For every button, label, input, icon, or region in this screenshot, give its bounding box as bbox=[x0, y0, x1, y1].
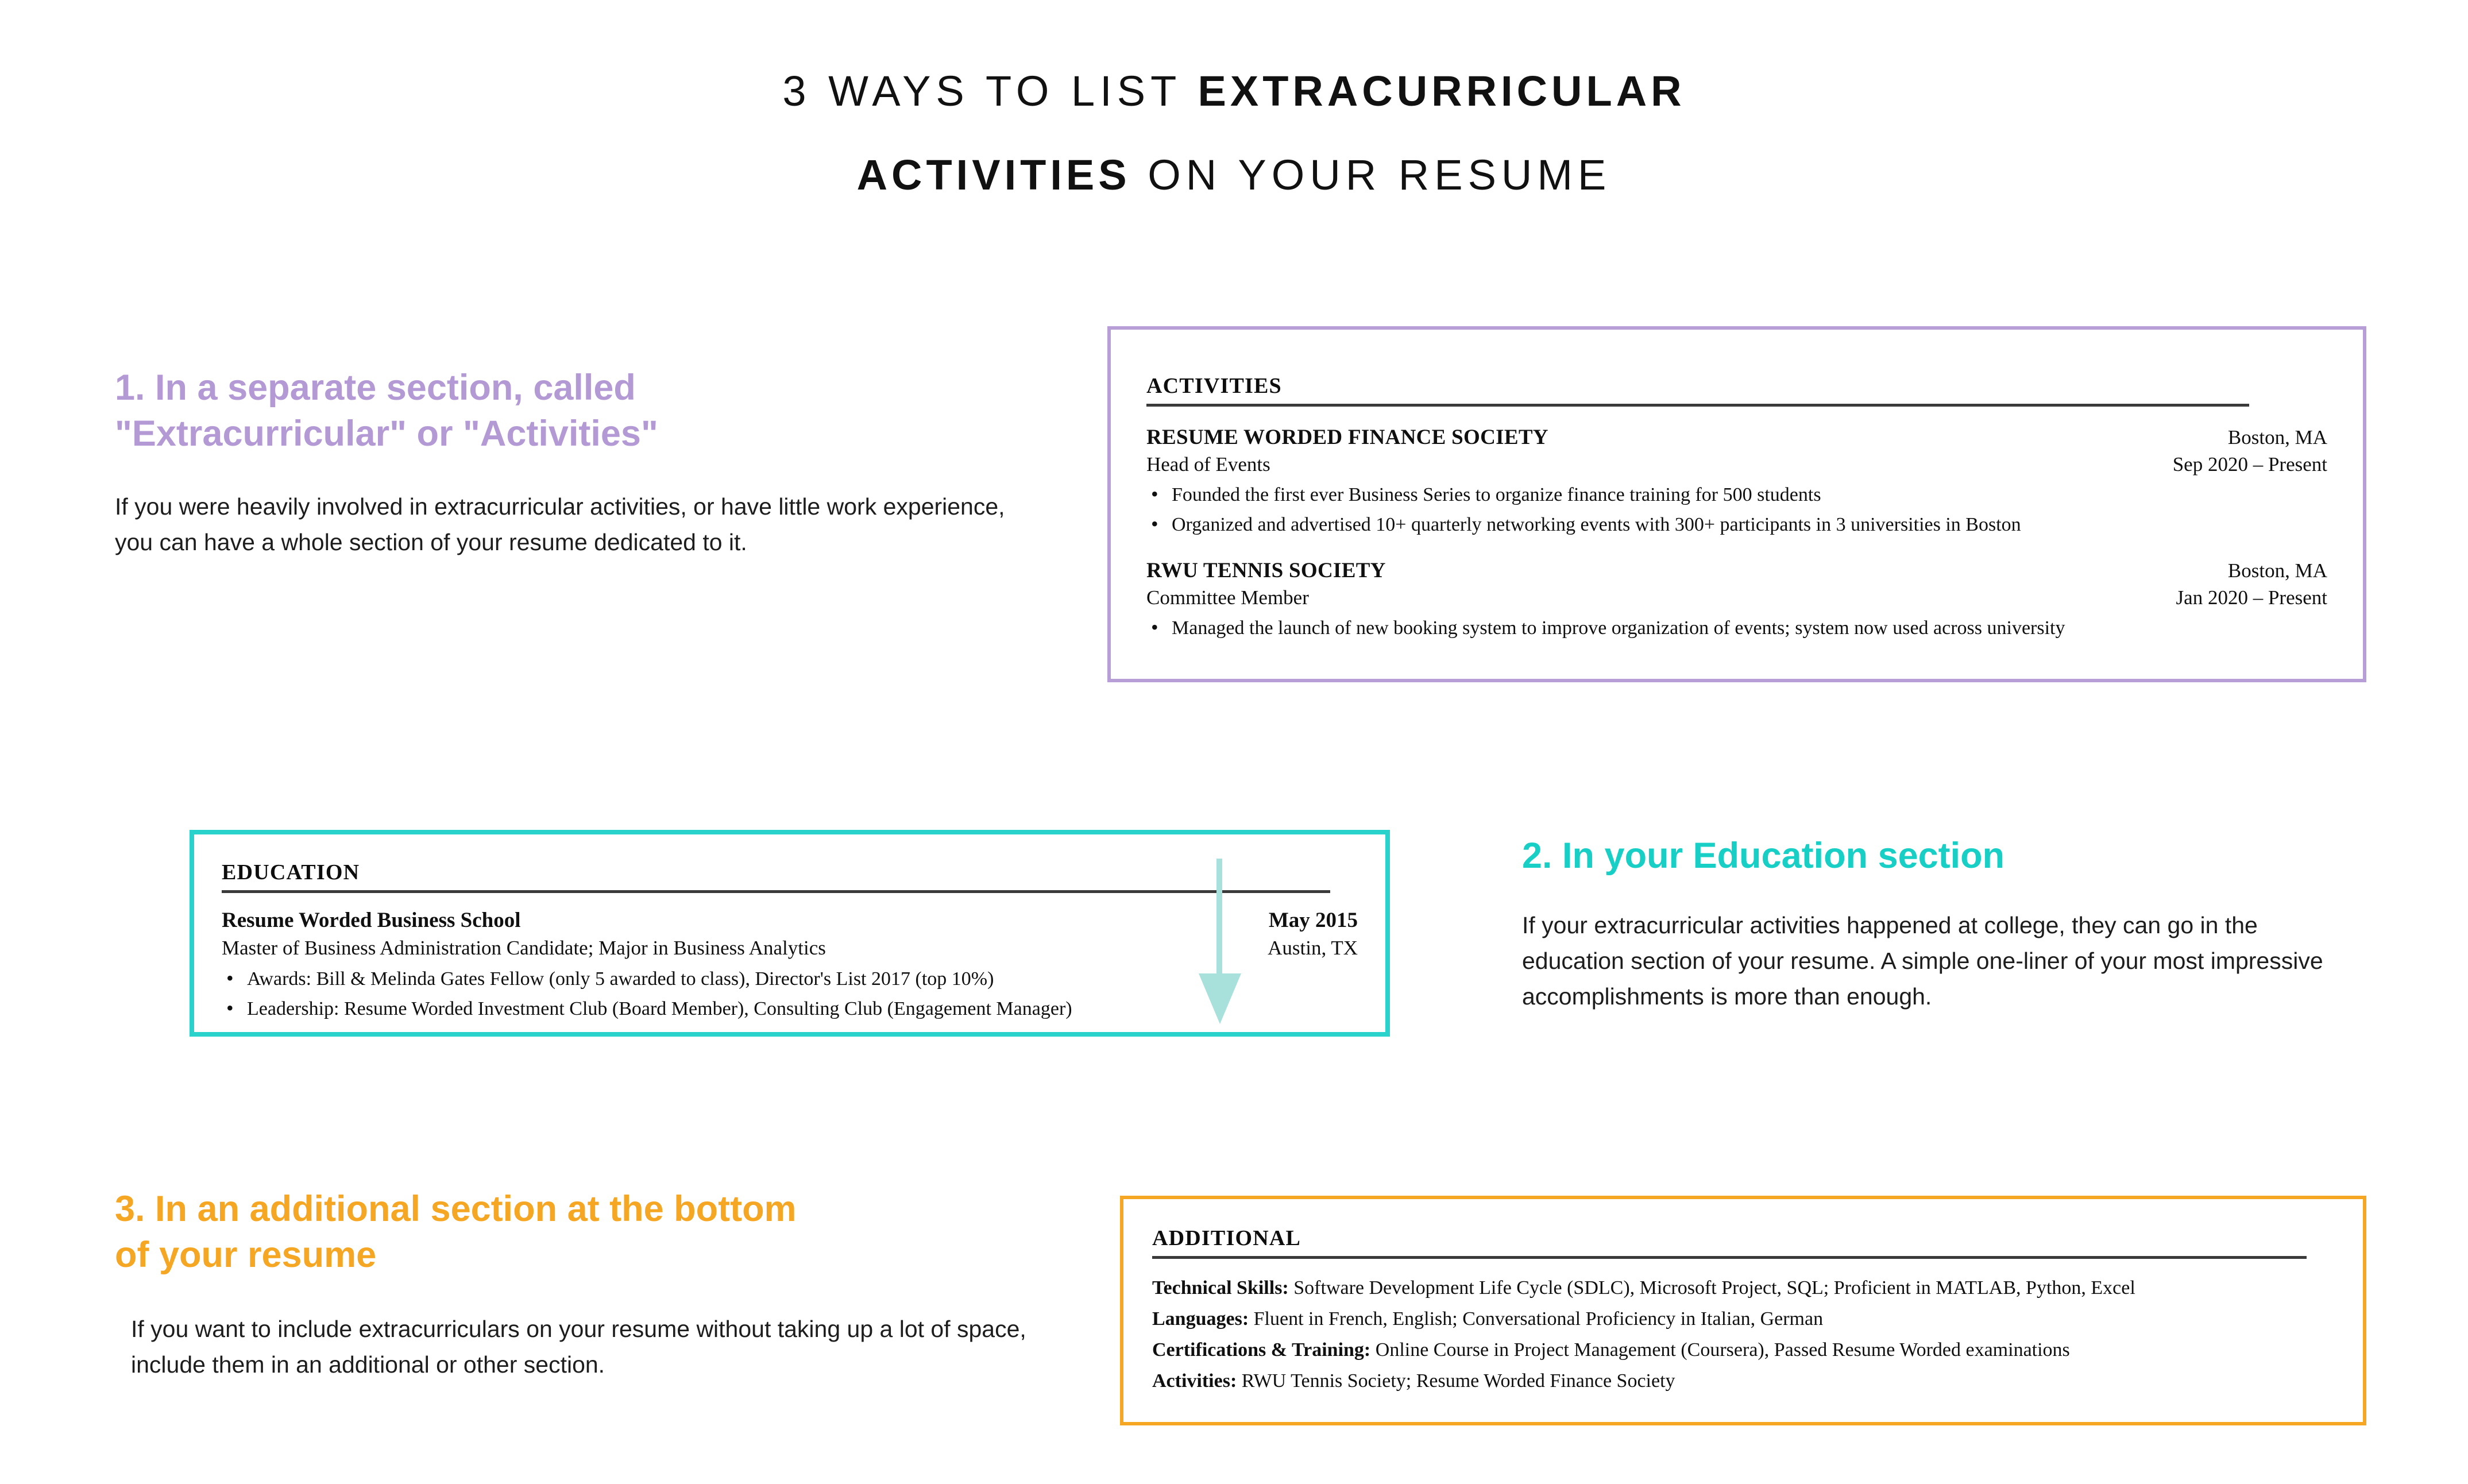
activities-entry-org: RWU TENNIS SOCIETY bbox=[1146, 557, 1386, 584]
callout-2-body: If your extracurricular activities happe… bbox=[1522, 907, 2361, 1014]
callout-3-body: If you want to include extracurriculars … bbox=[131, 1311, 1045, 1382]
activities-entry-role-row: Head of Events Sep 2020 – Present bbox=[1146, 451, 2327, 478]
additional-line: Languages: Fluent in French, English; Co… bbox=[1152, 1305, 2334, 1334]
resume-card-education: EDUCATION Resume Worded Business School … bbox=[190, 830, 1390, 1037]
additional-line-value: Fluent in French, English; Conversationa… bbox=[1249, 1308, 1823, 1330]
activities-entry-dates: Jan 2020 – Present bbox=[2176, 584, 2327, 611]
additional-line-value: Software Development Life Cycle (SDLC), … bbox=[1289, 1277, 2135, 1298]
activities-entry-org: RESUME WORDED FINANCE SOCIETY bbox=[1146, 424, 1548, 451]
resume-card-additional: ADDITIONAL Technical Skills: Software De… bbox=[1120, 1196, 2366, 1425]
resume-card-activities: ACTIVITIES RESUME WORDED FINANCE SOCIETY… bbox=[1107, 326, 2366, 682]
activities-entry-role: Committee Member bbox=[1146, 584, 1309, 611]
education-city: Austin, TX bbox=[1268, 934, 1358, 962]
activities-divider bbox=[1146, 404, 2249, 407]
additional-section-label: ADDITIONAL bbox=[1152, 1226, 2334, 1251]
additional-line-value: Online Course in Project Management (Cou… bbox=[1370, 1339, 2070, 1361]
education-bullet: Leadership: Resume Worded Investment Clu… bbox=[222, 994, 1358, 1024]
activities-bullet: Managed the launch of new booking system… bbox=[1146, 613, 2327, 643]
activities-entry: RESUME WORDED FINANCE SOCIETY Boston, MA… bbox=[1146, 424, 2327, 540]
education-section-label: EDUCATION bbox=[222, 860, 1358, 885]
activities-entry-location: Boston, MA bbox=[2228, 557, 2327, 584]
additional-line-key: Languages: bbox=[1152, 1308, 1249, 1330]
page-title-line-2: ACTIVITIES ON YOUR RESUME bbox=[0, 133, 2468, 217]
page-title-bold-1: EXTRACURRICULAR bbox=[1198, 67, 1686, 115]
activities-entry: RWU TENNIS SOCIETY Boston, MA Committee … bbox=[1146, 557, 2327, 643]
activities-entry-location: Boston, MA bbox=[2228, 424, 2327, 451]
callout-1-heading-line-2: "Extracurricular" or "Activities" bbox=[115, 413, 658, 454]
activities-entry-org-row: RESUME WORDED FINANCE SOCIETY Boston, MA bbox=[1146, 424, 2327, 451]
additional-line: Certifications & Training: Online Course… bbox=[1152, 1336, 2334, 1365]
page-title: 3 WAYS TO LIST EXTRACURRICULAR ACTIVITIE… bbox=[0, 49, 2468, 217]
activities-entry-role-row: Committee Member Jan 2020 – Present bbox=[1146, 584, 2327, 611]
additional-line-value: RWU Tennis Society; Resume Worded Financ… bbox=[1237, 1370, 1675, 1392]
education-date: May 2015 bbox=[1269, 907, 1358, 934]
page-title-normal-2: ON YOUR RESUME bbox=[1131, 151, 1612, 199]
education-school-name: Resume Worded Business School bbox=[222, 907, 521, 934]
activities-entry-dates: Sep 2020 – Present bbox=[2173, 451, 2327, 478]
page-title-normal-1: 3 WAYS TO LIST bbox=[782, 67, 1198, 115]
callout-3-heading-line-2: of your resume bbox=[115, 1235, 376, 1275]
additional-line-key: Activities: bbox=[1152, 1370, 1237, 1392]
activities-entry-role: Head of Events bbox=[1146, 451, 1270, 478]
page-title-line-1: 3 WAYS TO LIST EXTRACURRICULAR bbox=[0, 49, 2468, 133]
activities-entry-bullets: Managed the launch of new booking system… bbox=[1146, 613, 2327, 643]
additional-lines: Technical Skills: Software Development L… bbox=[1152, 1274, 2334, 1396]
additional-line: Technical Skills: Software Development L… bbox=[1152, 1274, 2334, 1303]
education-bullet: Awards: Bill & Melinda Gates Fellow (onl… bbox=[222, 964, 1358, 994]
callout-2-heading: 2. In your Education section bbox=[1522, 833, 2361, 879]
additional-line-key: Certifications & Training: bbox=[1152, 1339, 1370, 1361]
page-title-bold-2: ACTIVITIES bbox=[857, 151, 1131, 199]
education-school-row: Resume Worded Business School May 2015 bbox=[222, 907, 1358, 934]
callout-3-heading: 3. In an additional section at the botto… bbox=[115, 1186, 1045, 1278]
activities-bullet: Founded the first ever Business Series t… bbox=[1146, 480, 2327, 510]
activities-bullet: Organized and advertised 10+ quarterly n… bbox=[1146, 510, 2327, 540]
callout-1-heading-line-1: 1. In a separate section, called bbox=[115, 368, 636, 408]
activities-entry-bullets: Founded the first ever Business Series t… bbox=[1146, 480, 2327, 540]
education-degree: Master of Business Administration Candid… bbox=[222, 934, 826, 962]
education-divider bbox=[222, 890, 1330, 893]
callout-1-body: If you were heavily involved in extracur… bbox=[115, 489, 1011, 560]
additional-line-key: Technical Skills: bbox=[1152, 1277, 1289, 1298]
education-bullets: Awards: Bill & Melinda Gates Fellow (onl… bbox=[222, 964, 1358, 1024]
additional-divider bbox=[1152, 1256, 2307, 1259]
additional-line: Activities: RWU Tennis Society; Resume W… bbox=[1152, 1367, 2334, 1396]
callout-2-heading-line-1: 2. In your Education section bbox=[1522, 836, 2004, 876]
activities-entry-org-row: RWU TENNIS SOCIETY Boston, MA bbox=[1146, 557, 2327, 584]
callout-1-heading: 1. In a separate section, called "Extrac… bbox=[115, 365, 1011, 457]
callout-block-3: 3. In an additional section at the botto… bbox=[115, 1186, 1045, 1382]
education-degree-row: Master of Business Administration Candid… bbox=[222, 934, 1358, 962]
callout-3-heading-line-1: 3. In an additional section at the botto… bbox=[115, 1189, 797, 1229]
activities-section-label: ACTIVITIES bbox=[1146, 373, 2327, 399]
education-entry: Resume Worded Business School May 2015 M… bbox=[222, 907, 1358, 1024]
callout-block-1: 1. In a separate section, called "Extrac… bbox=[115, 365, 1011, 560]
callout-block-2: 2. In your Education section If your ext… bbox=[1522, 833, 2361, 1014]
